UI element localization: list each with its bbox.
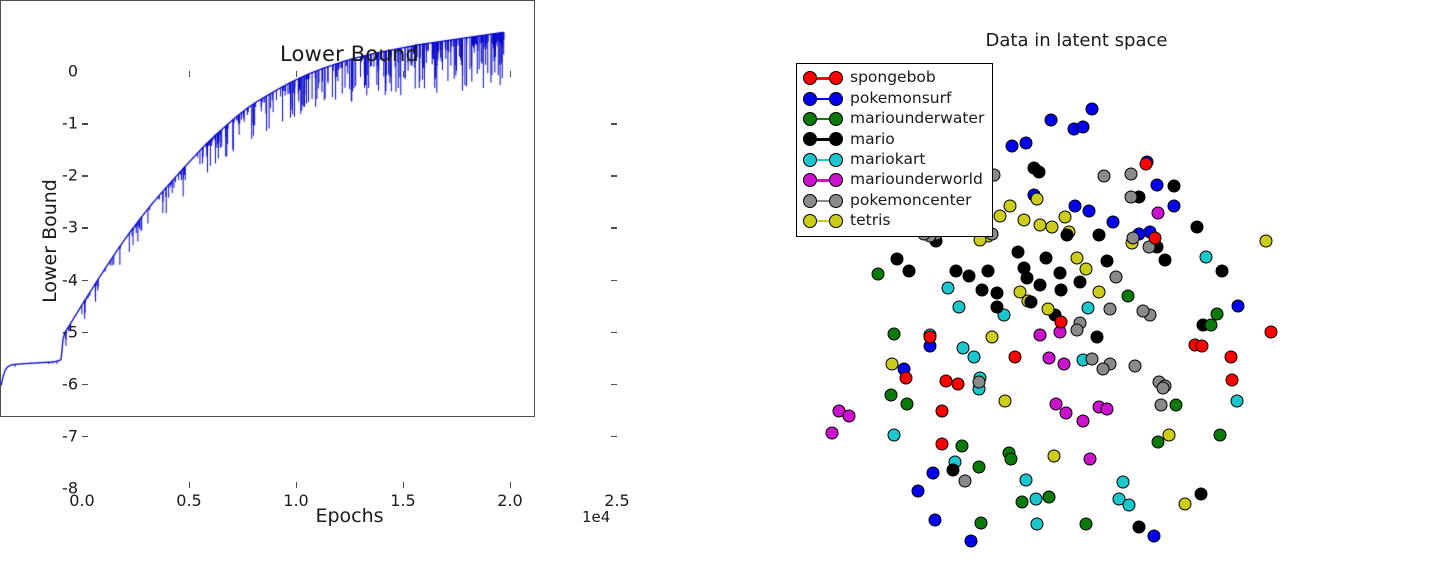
scatter-point — [1126, 232, 1139, 245]
scatter-point — [1226, 374, 1239, 387]
legend-dot-icon — [829, 153, 843, 167]
legend-label: pokemonsurf — [850, 91, 951, 107]
lower-bound-x-exponent-label: 1e4 — [582, 508, 610, 526]
scatter-point — [1148, 530, 1161, 543]
y-tick-mark — [611, 436, 617, 437]
legend-marker-mariokart — [803, 152, 843, 168]
scatter-point — [956, 342, 969, 355]
scatter-point — [1020, 272, 1033, 285]
x-tick-mark — [403, 482, 404, 488]
scatter-point — [1055, 283, 1068, 296]
scatter-point — [1081, 301, 1094, 314]
legend-label: pokemoncenter — [850, 193, 972, 209]
scatter-point — [1124, 191, 1137, 204]
scatter-point — [1085, 352, 1098, 365]
scatter-point — [1070, 323, 1083, 336]
legend-dot-icon — [803, 71, 817, 85]
scatter-point — [1055, 316, 1068, 329]
legend-item-spongebob[interactable]: spongebob — [803, 68, 984, 88]
scatter-point — [947, 463, 960, 476]
scatter-point — [1059, 211, 1072, 224]
scatter-point — [962, 269, 975, 282]
latent-space-chart-panel: Data in latent space spongebobpokemonsur… — [700, 0, 1453, 575]
legend-dot-icon — [803, 92, 817, 106]
scatter-point — [1053, 267, 1066, 280]
scatter-point — [1046, 220, 1059, 233]
scatter-point — [1017, 214, 1030, 227]
scatter-point — [1158, 254, 1171, 267]
scatter-point — [1132, 520, 1145, 533]
scatter-point — [1163, 428, 1176, 441]
legend-item-mario[interactable]: mario — [803, 129, 984, 149]
latent-space-chart-title: Data in latent space — [700, 30, 1453, 51]
scatter-point — [1034, 218, 1047, 231]
legend-label: mariokart — [850, 152, 925, 168]
legend-dot-icon — [803, 112, 817, 126]
legend-marker-mariounderworld — [803, 172, 843, 188]
lower-bound-x-axis-label: Epochs — [82, 505, 617, 527]
latent-space-legend: spongebobpokemonsurfmariounderwatermario… — [796, 63, 993, 237]
scatter-point — [1025, 295, 1038, 308]
scatter-point — [888, 327, 901, 340]
scatter-point — [1151, 207, 1164, 220]
lower-bound-y-axis-label: Lower Bound — [39, 41, 61, 441]
scatter-point — [903, 265, 916, 278]
x-tick-mark — [296, 482, 297, 488]
scatter-point — [1068, 200, 1081, 213]
scatter-point — [1079, 517, 1092, 530]
scatter-point — [936, 437, 949, 450]
matplotlib-figure: Lower Bound 0-1-2-3-4-5-6-7-8 0.00.51.01… — [0, 0, 1453, 575]
scatter-point — [928, 513, 941, 526]
scatter-point — [1157, 381, 1170, 394]
scatter-point — [1042, 351, 1055, 364]
scatter-point — [952, 378, 965, 391]
scatter-point — [1117, 476, 1130, 489]
legend-dot-icon — [803, 194, 817, 208]
scatter-point — [891, 252, 904, 265]
scatter-point — [1005, 139, 1018, 152]
scatter-point — [991, 300, 1004, 313]
legend-marker-tetris — [803, 213, 843, 229]
scatter-point — [1011, 245, 1024, 258]
scatter-point — [1093, 285, 1106, 298]
scatter-point — [1044, 113, 1057, 126]
scatter-point — [1213, 428, 1226, 441]
scatter-point — [1030, 517, 1043, 530]
scatter-point — [1020, 137, 1033, 150]
scatter-point — [965, 534, 978, 547]
scatter-point — [1121, 290, 1134, 303]
scatter-point — [1020, 474, 1033, 487]
scatter-point — [1204, 319, 1217, 332]
scatter-point — [1059, 406, 1072, 419]
scatter-point — [972, 376, 985, 389]
y-tick-mark — [611, 227, 617, 228]
scatter-point — [993, 210, 1006, 223]
scatter-point — [959, 475, 972, 488]
scatter-point — [1070, 251, 1083, 264]
legend-dot-icon — [829, 214, 843, 228]
scatter-point — [1139, 157, 1152, 170]
scatter-point — [986, 331, 999, 344]
scatter-point — [1230, 395, 1243, 408]
scatter-point — [1076, 121, 1089, 134]
scatter-point — [1016, 496, 1029, 509]
scatter-point — [1004, 199, 1017, 212]
scatter-point — [1260, 235, 1273, 248]
legend-item-pokemoncenter[interactable]: pokemoncenter — [803, 190, 984, 210]
scatter-point — [1080, 263, 1093, 276]
scatter-point — [1151, 179, 1164, 192]
legend-dot-icon — [829, 112, 843, 126]
x-tick-mark — [189, 482, 190, 488]
scatter-point — [1178, 497, 1191, 510]
scatter-point — [1136, 304, 1149, 317]
scatter-point — [1047, 450, 1060, 463]
scatter-point — [1100, 254, 1113, 267]
y-tick-mark — [82, 436, 88, 437]
scatter-point — [1106, 215, 1119, 228]
scatter-point — [1090, 330, 1103, 343]
legend-item-mariounderwater[interactable]: mariounderwater — [803, 109, 984, 129]
lower-bound-chart-panel: Lower Bound 0-1-2-3-4-5-6-7-8 0.00.51.01… — [0, 0, 700, 575]
legend-dot-icon — [803, 153, 817, 167]
scatter-point — [923, 330, 936, 343]
scatter-point — [974, 516, 987, 529]
legend-marker-spongebob — [803, 70, 843, 86]
legend-dot-icon — [829, 194, 843, 208]
y-tick-mark — [611, 123, 617, 124]
legend-dot-icon — [803, 132, 817, 146]
scatter-point — [884, 389, 897, 402]
scatter-point — [872, 268, 885, 281]
scatter-point — [1029, 492, 1042, 505]
scatter-point — [1100, 403, 1113, 416]
scatter-point — [825, 426, 838, 439]
scatter-point — [1110, 270, 1123, 283]
legend-label: spongebob — [850, 70, 936, 86]
scatter-point — [888, 428, 901, 441]
scatter-point — [1031, 192, 1044, 205]
scatter-point — [1082, 205, 1095, 218]
legend-dot-icon — [803, 214, 817, 228]
scatter-point — [1058, 358, 1071, 371]
scatter-point — [1195, 487, 1208, 500]
scatter-point — [998, 394, 1011, 407]
scatter-point — [1123, 499, 1136, 512]
scatter-point — [1196, 340, 1209, 353]
legend-label: mariounderworld — [850, 172, 983, 188]
scatter-point — [956, 439, 969, 452]
scatter-point — [1104, 302, 1117, 315]
scatter-point — [1200, 250, 1213, 263]
scatter-point — [886, 357, 899, 370]
scatter-point — [940, 374, 953, 387]
lower-bound-chart-title: Lower Bound — [82, 42, 617, 66]
legend-marker-mario — [803, 131, 843, 147]
scatter-point — [912, 484, 925, 497]
scatter-point — [1154, 399, 1167, 412]
legend-item-mariounderworld[interactable]: mariounderworld — [803, 170, 984, 190]
legend-label: tetris — [850, 213, 890, 229]
legend-dot-icon — [829, 132, 843, 146]
scatter-point — [1098, 169, 1111, 182]
scatter-point — [968, 351, 981, 364]
scatter-point — [941, 282, 954, 295]
scatter-point — [1124, 167, 1137, 180]
y-tick-mark — [611, 332, 617, 333]
scatter-point — [843, 409, 856, 422]
scatter-point — [1041, 302, 1054, 315]
legend-dot-icon — [829, 71, 843, 85]
legend-dot-icon — [829, 173, 843, 187]
scatter-point — [953, 300, 966, 313]
legend-label: mario — [850, 132, 895, 148]
scatter-point — [1032, 166, 1045, 179]
scatter-point — [1167, 199, 1180, 212]
legend-label: mariounderwater — [850, 111, 984, 127]
scatter-point — [1034, 278, 1047, 291]
scatter-point — [927, 466, 940, 479]
legend-item-pokemonsurf[interactable]: pokemonsurf — [803, 88, 984, 108]
legend-marker-pokemonsurf — [803, 91, 843, 107]
scatter-point — [1043, 491, 1056, 504]
scatter-point — [976, 284, 989, 297]
legend-item-mariokart[interactable]: mariokart — [803, 150, 984, 170]
scatter-point — [950, 265, 963, 278]
legend-marker-mariounderwater — [803, 111, 843, 127]
scatter-point — [1061, 229, 1074, 242]
scatter-point — [1073, 275, 1086, 288]
legend-dot-icon — [829, 92, 843, 106]
y-tick-mark — [611, 384, 617, 385]
scatter-point — [936, 404, 949, 417]
legend-marker-pokemoncenter — [803, 193, 843, 209]
x-tick-mark — [510, 482, 511, 488]
scatter-point — [1129, 359, 1142, 372]
scatter-point — [1215, 265, 1228, 278]
y-tick-mark — [611, 175, 617, 176]
legend-dot-icon — [803, 173, 817, 187]
scatter-point — [901, 398, 914, 411]
scatter-point — [1168, 179, 1181, 192]
scatter-point — [1008, 351, 1021, 364]
scatter-point — [1190, 220, 1203, 233]
scatter-point — [1084, 452, 1097, 465]
scatter-point — [899, 372, 912, 385]
scatter-point — [1224, 351, 1237, 364]
scatter-point — [1093, 228, 1106, 241]
scatter-point — [1040, 251, 1053, 264]
scatter-point — [1004, 452, 1017, 465]
scatter-point — [981, 265, 994, 278]
scatter-point — [1096, 362, 1109, 375]
scatter-point — [1169, 399, 1182, 412]
scatter-point — [1034, 328, 1047, 341]
scatter-point — [991, 287, 1004, 300]
scatter-point — [972, 460, 985, 473]
legend-item-tetris[interactable]: tetris — [803, 211, 984, 231]
scatter-point — [1076, 415, 1089, 428]
y-tick-mark — [611, 280, 617, 281]
scatter-point — [1148, 232, 1161, 245]
scatter-point — [1151, 435, 1164, 448]
scatter-point — [1086, 103, 1099, 116]
scatter-point — [1264, 326, 1277, 339]
scatter-point — [1232, 299, 1245, 312]
